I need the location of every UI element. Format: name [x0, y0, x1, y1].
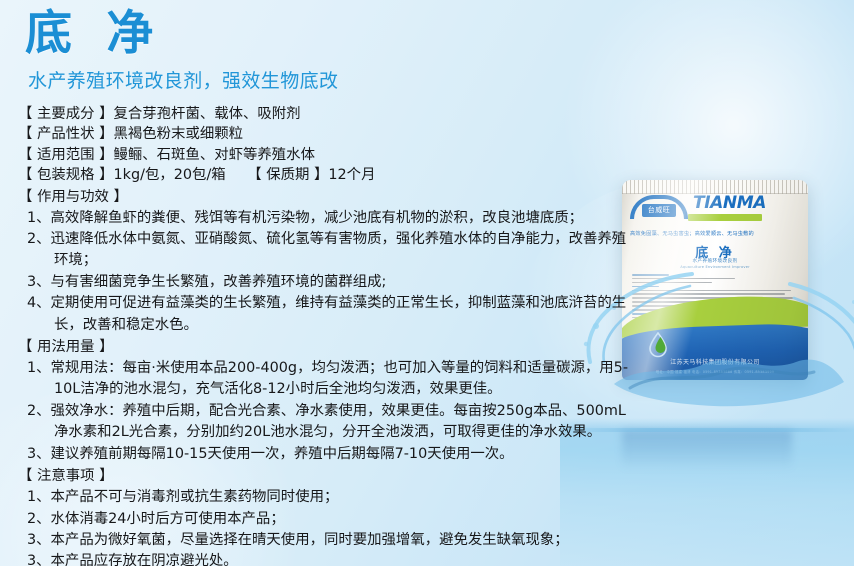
spec-ingredients: 【 主要成分 】复合芽孢杆菌、载体、吸附剂 — [18, 104, 640, 124]
spec-scope: 【 适用范围 】鳗鲡、石斑鱼、对虾等养殖水体 — [18, 145, 640, 165]
effects-item-3: 3、与有害细菌竞争生长繁殖，改善养殖环境的菌群组成; — [18, 272, 640, 293]
effects-heading: 【 作用与功效 】 — [18, 187, 640, 208]
dosage-item-3: 3、建议养殖前期每隔10-15天使用一次，养殖中后期每隔7-10天使用一次。 — [18, 444, 640, 465]
water-drop-icon — [648, 332, 668, 358]
pouch-brand-header: 台威旺 TIANMA — [630, 195, 800, 227]
cautions-item-2: 2、水体消毒24小时后方可使用本产品； — [18, 509, 640, 530]
effects-item-2: 2、迅速降低水体中氨氮、亚硝酸氮、硫化氢等有害物质，强化养殖水体的自净能力，改善… — [18, 229, 640, 272]
dosage-item-1: 1、常规用法：每亩·米使用本品200-400g，均匀泼洒；也可加入等量的饲料和适… — [18, 358, 640, 401]
cautions-item-4: 3、本产品应存放在阴凉避光处。 — [18, 551, 640, 566]
dosage-item-2: 2、强效净水：养殖中后期，配合光合素、净水素使用，效果更佳。每亩按250g本品、… — [18, 401, 640, 444]
dosage-heading: 【 用法用量 】 — [18, 337, 640, 358]
text-content: 底 净 水产养殖环境改良剂，强效生物底改 【 主要成分 】复合芽孢杆菌、载体、吸… — [0, 0, 640, 566]
pouch-product-name-en: Aquaculture Environment Improver — [622, 265, 808, 269]
effects-item-1: 1、高效降解鱼虾的粪便、残饵等有机污染物，减少池底有机物的淤积，改良池塘底质； — [18, 208, 640, 229]
page-subtitle: 水产养殖环境改良剂，强效生物底改 — [28, 66, 640, 93]
logo-badge-label: 台威旺 — [642, 204, 676, 217]
spec-block: 【 主要成分 】复合芽孢杆菌、载体、吸附剂 【 产品性状 】黑褐色粉末或细颗粒 … — [18, 104, 640, 186]
effects-item-4: 4、定期使用可促进有益藻类的生长繁殖，维持有益藻类的正常生长，抑制蓝藻和池底浒苔… — [18, 293, 640, 336]
spec-properties: 【 产品性状 】黑褐色粉末或细颗粒 — [18, 124, 640, 144]
product-info-page: 底 净 水产养殖环境改良剂，强效生物底改 【 主要成分 】复合芽孢杆菌、载体、吸… — [0, 0, 854, 566]
cautions-item-1: 1、本产品不可与消毒剂或抗生素药物同时使用； — [18, 487, 640, 508]
pouch-company-name: 江苏天马科技集团股份有限公司 — [622, 357, 808, 366]
pouch-top-seal — [622, 180, 808, 194]
spec-package: 【 包装规格 】1kg/包，20包/箱 【 保质期 】12个月 — [18, 165, 640, 185]
pouch-company-address: 地址：中国·福建·福清 电话：0591-85383888 传真：0591-853… — [622, 369, 808, 374]
pouch-slogan: 高效免固藻、无马虫害虫；高效爱顺云、无马虫敷的 — [630, 230, 800, 237]
product-pouch: 台威旺 TIANMA 高效免固藻、无马虫害虫；高效爱顺云、无马虫敷的 底 净 水… — [622, 180, 808, 380]
pouch-product-name-sub: 水产养殖环境改良剂 — [622, 258, 808, 264]
brand-green-bar — [688, 214, 762, 221]
brand-latin-label: TIANMA — [693, 195, 766, 212]
page-title: 底 净 — [25, 10, 640, 57]
cautions-heading: 【 注意事项 】 — [18, 466, 640, 487]
cautions-item-3: 3、本产品为微好氧菌，尽量选择在晴天使用，同时要加强增氧，避免发生缺氧现象； — [18, 530, 640, 551]
pouch-reflection — [622, 430, 792, 470]
